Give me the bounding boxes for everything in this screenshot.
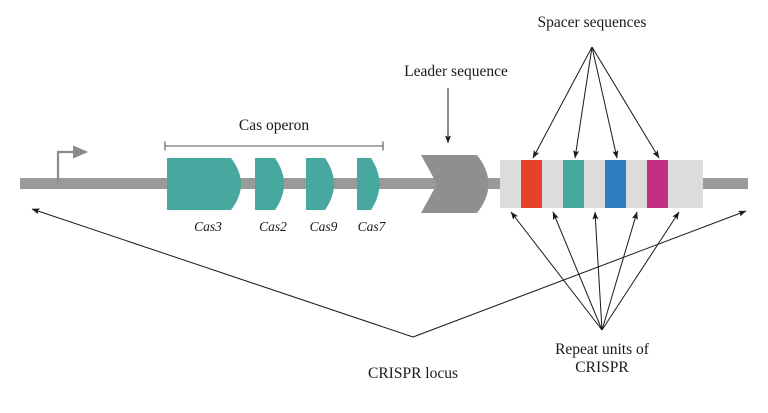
- crispr-repeat-spacer-array: [500, 160, 703, 208]
- spacer-2[interactable]: [563, 160, 584, 208]
- label-spacer-sequences: Spacer sequences: [538, 14, 647, 31]
- spacer-4[interactable]: [647, 160, 668, 208]
- cas-operon-bracket: [165, 142, 383, 151]
- crispr-locus-diagram: Spacer sequences Leader sequence Cas ope…: [0, 0, 768, 413]
- crispr-locus-pointer-1: [32, 209, 413, 337]
- gene-label-cas9: Cas9: [310, 219, 338, 234]
- repeat-unit-1[interactable]: [500, 160, 521, 208]
- gene-cas7[interactable]: [357, 158, 380, 210]
- repeat-unit-3[interactable]: [584, 160, 605, 208]
- gene-cas3[interactable]: [167, 158, 241, 210]
- label-leader-sequence: Leader sequence: [404, 63, 508, 80]
- spacer-pointer-4: [592, 47, 659, 158]
- label-repeat-units-line1: Repeat units of: [555, 341, 650, 358]
- repeat-pointer-3: [595, 212, 602, 330]
- gene-cas9[interactable]: [306, 158, 334, 210]
- figure-canvas: Spacer sequences Leader sequence Cas ope…: [0, 0, 768, 413]
- repeat-pointer-2: [553, 212, 602, 330]
- repeat-pointer-4: [602, 212, 637, 330]
- label-repeat-units-line2: CRISPR: [575, 359, 629, 376]
- repeat-unit-5[interactable]: [668, 160, 703, 208]
- gene-label-cas3: Cas3: [194, 219, 222, 234]
- gene-label-cas7: Cas7: [358, 219, 387, 234]
- repeat-unit-4[interactable]: [626, 160, 647, 208]
- promoter-arrow-icon: [58, 152, 86, 182]
- repeat-unit-2[interactable]: [542, 160, 563, 208]
- spacer-1[interactable]: [521, 160, 542, 208]
- spacer-3[interactable]: [605, 160, 626, 208]
- label-crispr-locus: CRISPR locus: [368, 365, 458, 382]
- spacer-pointer-3: [592, 47, 617, 158]
- cas-gene-labels: Cas3Cas2Cas9Cas7: [194, 219, 387, 234]
- repeat-pointer-5: [602, 212, 679, 330]
- gene-cas2[interactable]: [255, 158, 284, 210]
- crispr-locus-pointer-2: [413, 211, 746, 337]
- gene-label-cas2: Cas2: [259, 219, 287, 234]
- label-cas-operon: Cas operon: [239, 117, 309, 134]
